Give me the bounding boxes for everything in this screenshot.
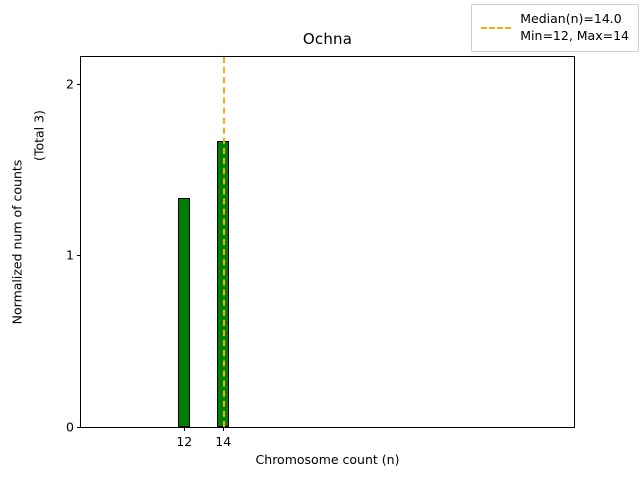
y-axis-label: Normalized num of counts bbox=[10, 160, 25, 325]
x-axis-label: Chromosome count (n) bbox=[80, 452, 575, 467]
median-line-swatch-icon bbox=[481, 27, 511, 29]
chart-figure: Ochna Normalized num of counts (Total 3)… bbox=[0, 0, 640, 480]
median-line bbox=[223, 57, 225, 427]
y-axis-secondary-label-container: (Total 3) bbox=[28, 56, 50, 428]
y-tick-mark bbox=[77, 427, 81, 428]
bar bbox=[178, 198, 190, 427]
y-tick-mark bbox=[77, 255, 81, 256]
plot-area bbox=[81, 57, 574, 427]
chart-legend: Median(n)=14.0 Min=12, Max=14 bbox=[471, 4, 639, 52]
plot-axes: 0121214 bbox=[80, 56, 575, 428]
x-tick-mark bbox=[223, 427, 224, 431]
y-tick-label: 0 bbox=[66, 420, 74, 435]
legend-label-median: Median(n)=14.0 bbox=[520, 11, 629, 28]
legend-item-labels: Median(n)=14.0 Min=12, Max=14 bbox=[520, 11, 629, 44]
y-axis-total-label: (Total 3) bbox=[32, 110, 47, 161]
x-tick-label: 12 bbox=[176, 434, 192, 449]
y-tick-mark bbox=[77, 84, 81, 85]
x-tick-mark bbox=[184, 427, 185, 431]
legend-item-median: Median(n)=14.0 Min=12, Max=14 bbox=[481, 11, 629, 44]
x-tick-label: 14 bbox=[215, 434, 231, 449]
y-tick-label: 1 bbox=[66, 248, 74, 263]
legend-label-minmax: Min=12, Max=14 bbox=[520, 28, 629, 45]
y-tick-label: 2 bbox=[66, 76, 74, 91]
